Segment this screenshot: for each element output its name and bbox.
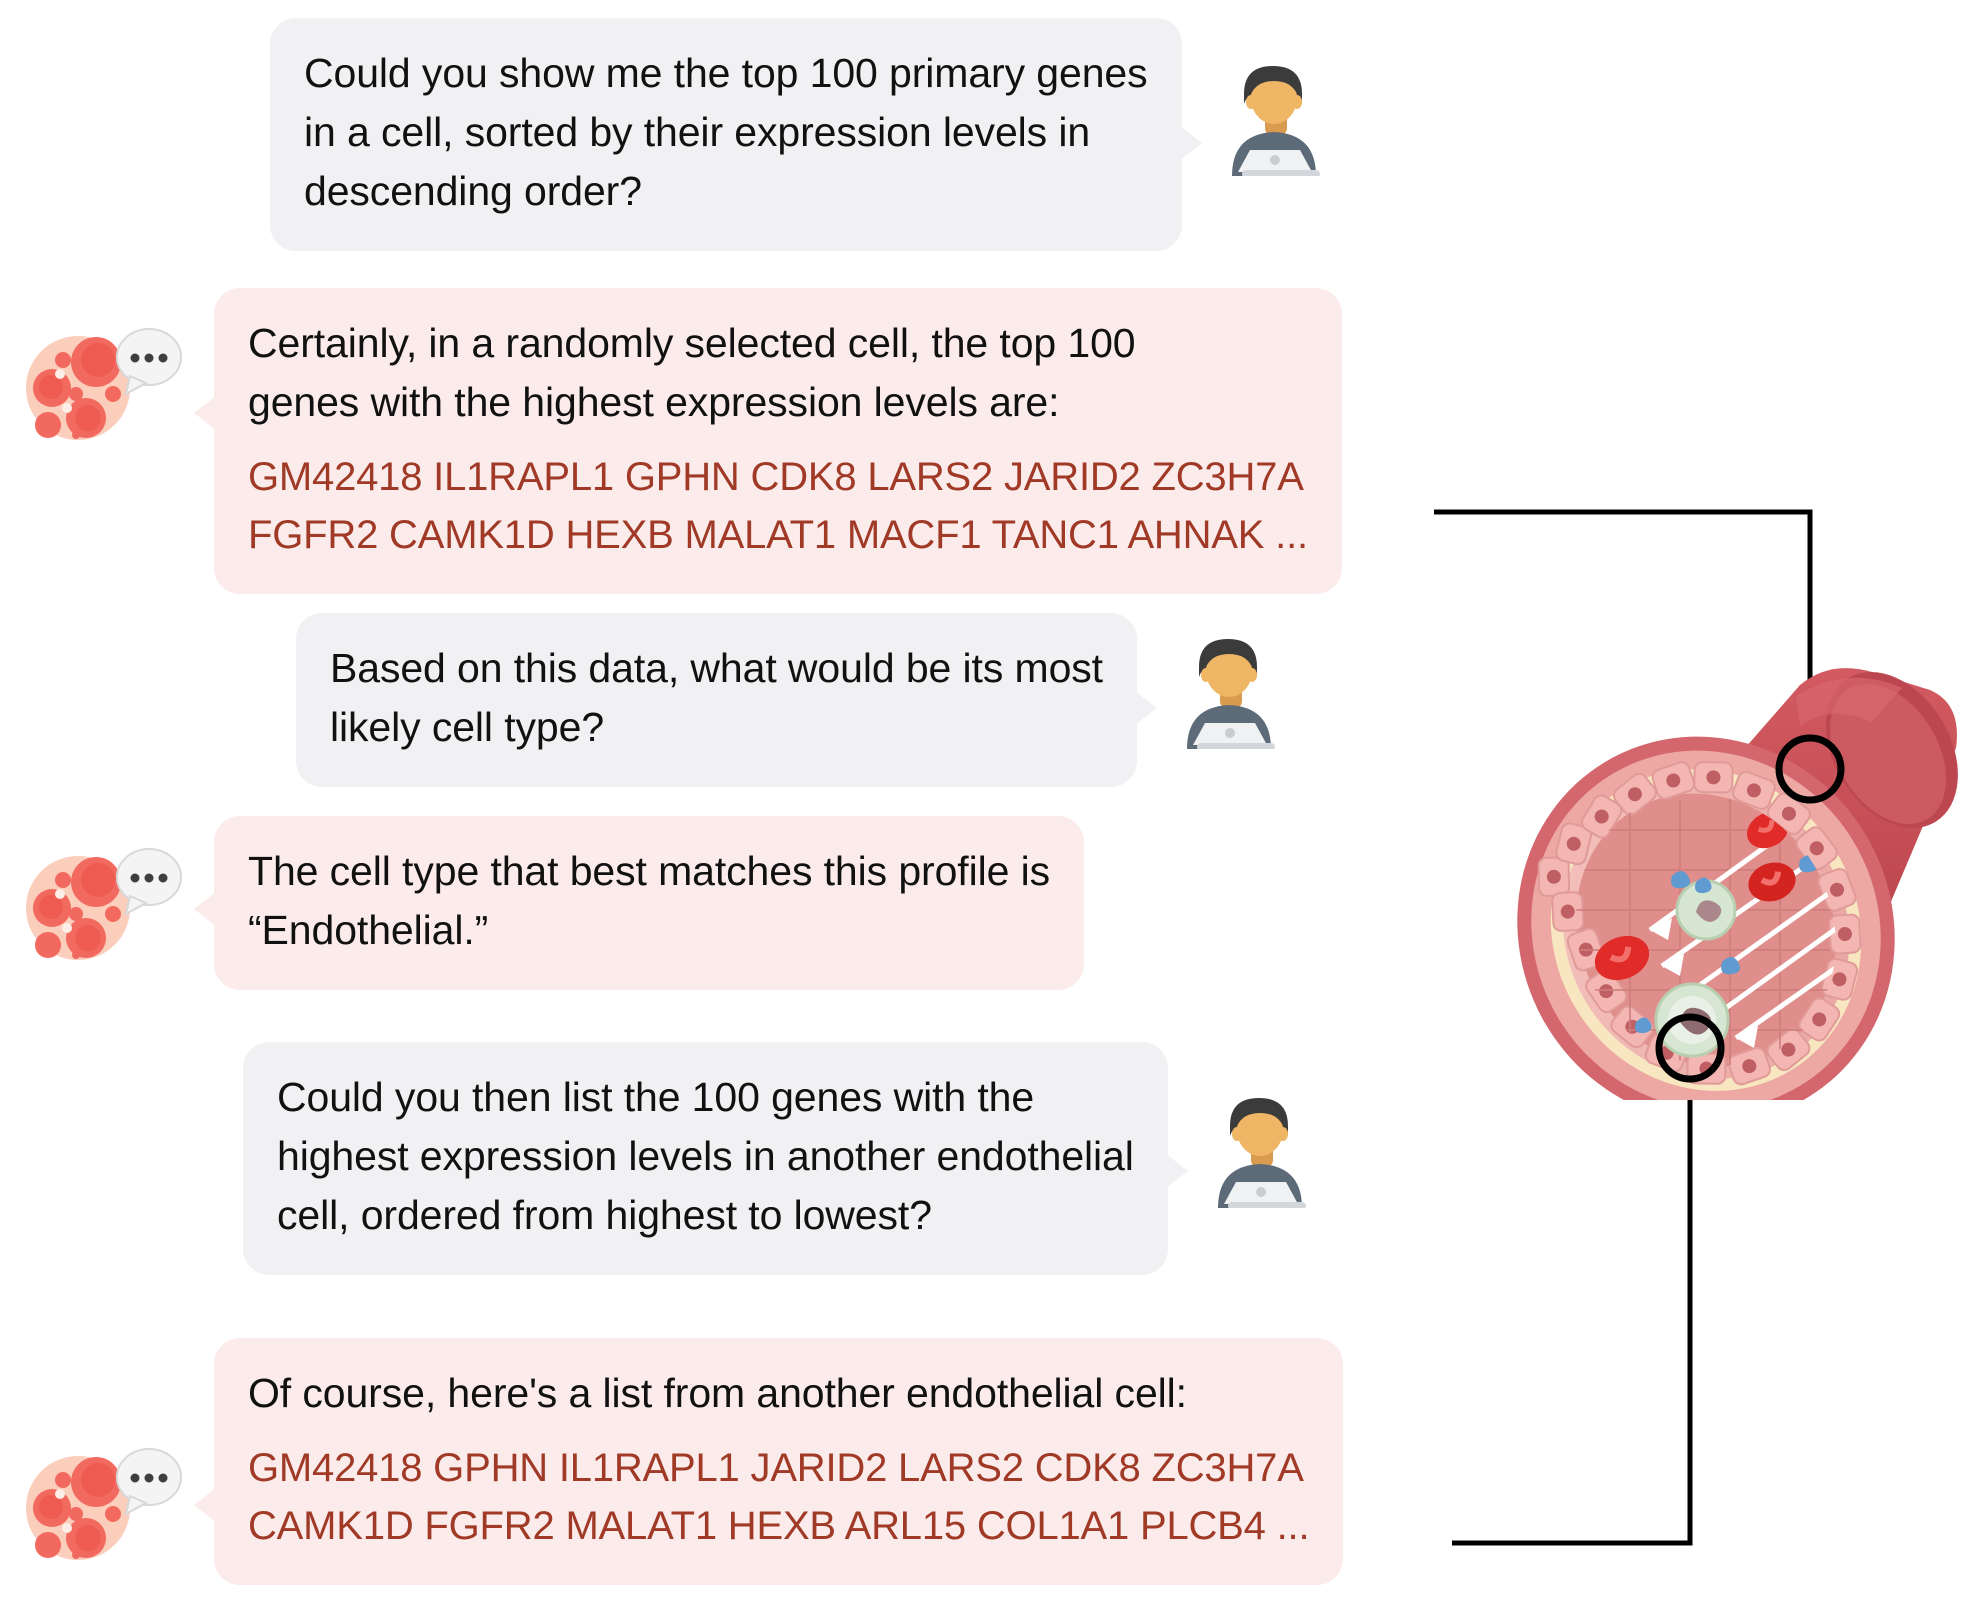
- bubble-tail: [1135, 691, 1157, 725]
- message-line: “Endothelial.”: [248, 901, 1050, 960]
- screenshot-canvas: Could you show me the top 100 primary ge…: [0, 0, 1966, 1606]
- message-row-2: Based on this data, what would be its mo…: [296, 613, 1285, 787]
- message-row-5: Of course, here's a list from another en…: [18, 1338, 1343, 1585]
- user-bubble-4[interactable]: Could you then list the 100 genes with t…: [243, 1042, 1168, 1275]
- ai-avatar: [18, 842, 196, 962]
- chat-transcript: Could you show me the top 100 primary ge…: [0, 0, 1620, 1606]
- message-line: highest expression levels in another end…: [277, 1127, 1134, 1186]
- user-bubble-0[interactable]: Could you show me the top 100 primary ge…: [270, 18, 1182, 251]
- assistant-bubble-1[interactable]: Certainly, in a randomly selected cell, …: [214, 288, 1342, 594]
- ai-avatar: [18, 322, 196, 442]
- message-row-4: Could you then list the 100 genes with t…: [243, 1042, 1316, 1275]
- message-line: Could you show me the top 100 primary ge…: [304, 44, 1148, 103]
- cell-icon: [26, 856, 130, 960]
- bubble-tail: [194, 396, 216, 430]
- message-row-1: Certainly, in a randomly selected cell, …: [18, 288, 1342, 594]
- gene-list-line: GM42418 GPHN IL1RAPL1 JARID2 LARS2 CDK8 …: [248, 1439, 1309, 1497]
- message-row-3: The cell type that best matches this pro…: [18, 816, 1084, 990]
- assistant-bubble-3[interactable]: The cell type that best matches this pro…: [214, 816, 1084, 990]
- assistant-bubble-5[interactable]: Of course, here's a list from another en…: [214, 1338, 1343, 1585]
- message-line: Of course, here's a list from another en…: [248, 1364, 1309, 1423]
- user-avatar: [1175, 631, 1285, 749]
- bubble-tail: [1180, 126, 1202, 160]
- message-line: Certainly, in a randomly selected cell, …: [248, 314, 1308, 373]
- ai-avatar: [18, 1442, 196, 1562]
- gene-list: GM42418 GPHN IL1RAPL1 JARID2 LARS2 CDK8 …: [248, 1439, 1309, 1555]
- message-line: likely cell type?: [330, 698, 1103, 757]
- message-line: descending order?: [304, 162, 1148, 221]
- message-line: Could you then list the 100 genes with t…: [277, 1068, 1134, 1127]
- message-line: The cell type that best matches this pro…: [248, 842, 1050, 901]
- message-line: cell, ordered from highest to lowest?: [277, 1186, 1134, 1245]
- message-row-0: Could you show me the top 100 primary ge…: [270, 18, 1330, 251]
- gene-list-line: CAMK1D FGFR2 MALAT1 HEXB ARL15 COL1A1 PL…: [248, 1497, 1309, 1555]
- message-line: in a cell, sorted by their expression le…: [304, 103, 1148, 162]
- bubble-tail: [1166, 1154, 1188, 1188]
- user-bubble-2[interactable]: Based on this data, what would be its mo…: [296, 613, 1137, 787]
- user-avatar: [1220, 58, 1330, 176]
- message-line: genes with the highest expression levels…: [248, 373, 1308, 432]
- user-avatar: [1206, 1090, 1316, 1208]
- message-line: Based on this data, what would be its mo…: [330, 639, 1103, 698]
- gene-list-line: GM42418 IL1RAPL1 GPHN CDK8 LARS2 JARID2 …: [248, 448, 1308, 506]
- gene-list: GM42418 IL1RAPL1 GPHN CDK8 LARS2 JARID2 …: [248, 448, 1308, 564]
- cell-icon: [26, 1456, 130, 1560]
- bubble-tail: [194, 892, 216, 926]
- bubble-tail: [194, 1488, 216, 1522]
- gene-list-line: FGFR2 CAMK1D HEXB MALAT1 MACF1 TANC1 AHN…: [248, 506, 1308, 564]
- cell-icon: [26, 336, 130, 440]
